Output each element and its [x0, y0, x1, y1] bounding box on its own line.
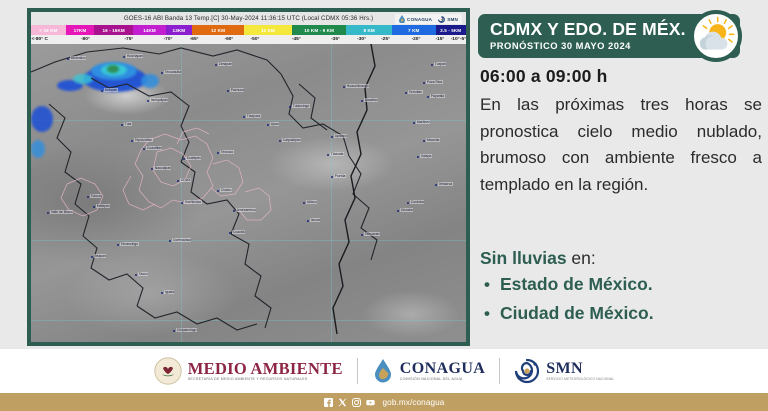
city-label: Texcoco [220, 150, 233, 154]
city-label: Tula [124, 122, 131, 126]
satellite-map-panel: GOES-16 ABI Banda 13 Temp.[C] 30-May-202… [27, 8, 470, 346]
colorbar-tick-0: <-80° C [31, 35, 47, 44]
city-label: Taxco [138, 272, 148, 276]
city-label: CDMX [180, 178, 191, 182]
city-label: Cuautla [232, 230, 244, 234]
footer-url-label[interactable]: gob.mx/conagua [383, 398, 445, 407]
city-label: Zacatlan [364, 98, 378, 102]
smn-name: SMN [546, 360, 614, 377]
medio-ambiente-tagline: SECRETARÍA DE MEDIO AMBIENTE Y RECURSOS … [188, 377, 343, 382]
city-label: Orizaba [400, 208, 413, 212]
city-label: Huauchinango [346, 84, 369, 88]
city-label: Huichapan [126, 54, 143, 58]
colorbar-tick-11: -20° [412, 35, 421, 44]
facebook-icon[interactable] [324, 398, 333, 407]
conagua-name: CONAGUA [400, 360, 485, 377]
youtube-icon[interactable] [366, 398, 375, 407]
colorbar-segment-10: 3.5 - 5KM [436, 25, 466, 35]
city-label: Xalapa [420, 154, 431, 158]
city-label: Atotonilco [70, 56, 86, 60]
city-label: Ecatepec [186, 156, 201, 160]
city-label: Tizayuca [246, 114, 260, 118]
region-name: Estado de México. [500, 270, 653, 299]
city-label: Metepec [96, 204, 110, 208]
conagua-drop-icon [372, 357, 394, 385]
bullet-marker-icon: • [484, 270, 490, 299]
colorbar-tick-4: -65° [190, 35, 199, 44]
city-label: Cuernavaca [172, 238, 191, 242]
city-label: Apan [270, 122, 279, 126]
list-item: •Estado de México. [484, 270, 764, 299]
conagua-watermark: CONAGUA [399, 15, 432, 23]
city-label: Atlixco [306, 200, 317, 204]
forecast-description-last-line: templado en la región. [480, 172, 762, 199]
city-label: Poza Rica [426, 80, 442, 84]
city-label: Xochimilco [184, 200, 201, 204]
smn-logo: SMN SERVICIO METEOROLÓGICO NACIONAL [514, 358, 614, 384]
forecast-description: En las próximas tres horas se pronostica… [480, 92, 762, 198]
state-boundaries [31, 44, 466, 342]
city-label: Tecozautla [164, 70, 181, 74]
region-name: Ciudad de México. [500, 299, 654, 328]
no-rain-suffix: en: [567, 248, 596, 268]
city-label: Ixmiquilpan [150, 98, 168, 102]
colorbar-segment-7: 10 KM - 9 KM [292, 25, 346, 35]
colorbar-tick-6: -50° [251, 35, 260, 44]
no-rain-label: Sin lluvias [480, 248, 567, 268]
city-label: Papantla [430, 94, 444, 98]
colorbar-tick-2: -75° [124, 35, 133, 44]
city-label: Actopan [104, 88, 117, 92]
city-label: Teziutlan [408, 90, 422, 94]
colorbar-tick-9: -30° [357, 35, 366, 44]
colorbar-segment-8: 8 KM [346, 25, 392, 35]
colorbar-tick-8: -35° [331, 35, 340, 44]
city-label: Iguala [164, 290, 174, 294]
smn-watermark-label: SMN [447, 17, 458, 22]
city-label: Naucalpan [154, 166, 171, 170]
colorbar-segment-3: 14KM [133, 25, 166, 35]
city-label: Veracruz [438, 182, 452, 186]
smn-tagline: SERVICIO METEOROLÓGICO NACIONAL [546, 377, 614, 381]
city-label: Tenancingo [120, 242, 138, 246]
medio-ambiente-name: MEDIO AMBIENTE [188, 360, 343, 377]
city-label: Pachuca [230, 88, 244, 92]
map-watermark-logos: CONAGUA SMN [395, 14, 462, 24]
city-label: Puebla [334, 174, 345, 178]
city-label: Cordoba [410, 200, 424, 204]
city-label: Chalco [220, 188, 231, 192]
city-label: Valle de Bravo [50, 210, 73, 214]
instagram-icon[interactable] [352, 398, 361, 407]
colorbar-tick-10: -25° [381, 35, 390, 44]
city-label: Apizaco [334, 134, 347, 138]
satellite-infrared-image: AtotonilcoHuichapanTecozautlaZimapanIxmi… [31, 44, 466, 342]
smn-spiral-icon [438, 16, 445, 23]
conagua-logo: CONAGUA COMISIÓN NACIONAL DEL AGUA [372, 357, 485, 385]
smn-spiral-icon [514, 358, 540, 384]
city-label: Zimapan [218, 62, 232, 66]
city-label: Tehuacan [364, 232, 380, 236]
city-label: Misantla [426, 138, 439, 142]
region-list: •Estado de México.•Ciudad de México. [484, 270, 764, 328]
city-label: Tepotzotlan [134, 138, 152, 142]
colorbar-tick-12: -15° [435, 35, 444, 44]
logo-divider [357, 358, 358, 384]
colorbar-segment-0: > 18 KM [31, 25, 66, 35]
colorbar-tick-13: -10° [451, 35, 460, 44]
medio-ambiente-logo: MEDIO AMBIENTE SECRETARÍA DE MEDIO AMBIE… [154, 357, 343, 385]
city-label: Martinez [416, 120, 430, 124]
forecast-panel: CDMX Y EDO. DE MÉX. PRONÓSTICO 30 MAYO 2… [478, 0, 768, 345]
no-rain-heading: Sin lluvias en: [480, 247, 596, 269]
forecast-description-text: En las próximas tres horas se pronostica… [480, 95, 762, 167]
colorbar-tick-labels: <-80° C-80°-75°-70°-65°-60°-50°-45°-35°-… [31, 35, 466, 44]
social-footer-bar: gob.mx/conagua [0, 393, 768, 411]
city-label: Tuxpan [434, 62, 446, 66]
list-item: •Ciudad de México. [484, 299, 764, 328]
colorbar-segment-9: 7 KM [392, 25, 436, 35]
forecast-time-range: 06:00 a 09:00 h [480, 66, 608, 87]
logo-divider [499, 358, 500, 384]
bullet-marker-icon: • [484, 299, 490, 328]
city-label: Ixtapan [94, 254, 106, 258]
colorbar-tick-3: -70° [164, 35, 173, 44]
city-label: Tlaxcala [330, 152, 343, 156]
colorbar-segment-6: 11 KM [244, 25, 292, 35]
city-label: Tulancingo [292, 104, 309, 108]
colorbar-tick-5: -60° [224, 35, 233, 44]
mexico-eagle-seal-icon [154, 357, 182, 385]
conagua-watermark-label: CONAGUA [407, 17, 432, 22]
conagua-tagline: COMISIÓN NACIONAL DEL AGUA [400, 377, 485, 382]
city-label: Toluca [90, 194, 101, 198]
x-twitter-icon[interactable] [338, 398, 347, 407]
city-label: Amecameca [236, 208, 256, 212]
city-label: Izucar [310, 218, 320, 222]
smn-watermark: SMN [438, 16, 458, 23]
city-label: Cuautitlan [146, 146, 162, 150]
colorbar-segment-4: 13KM [166, 25, 192, 35]
colorbar-tick-1: -80° [81, 35, 90, 44]
temperature-colorbar: > 18 KM17KM16 - 16KM14KM13KM12 KM11 KM10… [31, 25, 466, 35]
sun-behind-cloud-icon [690, 10, 742, 62]
conagua-drop-icon [399, 15, 405, 23]
colorbar-segment-1: 17KM [66, 25, 94, 35]
colorbar-tick-14: -5° [460, 35, 466, 44]
colorbar-segment-2: 16 - 16KM [94, 25, 133, 35]
footer-logos: MEDIO AMBIENTE SECRETARÍA DE MEDIO AMBIE… [0, 349, 768, 393]
colorbar-tick-7: -45° [292, 35, 301, 44]
city-label: Chilpancingo [176, 328, 196, 332]
colorbar-segment-5: 12 KM [192, 25, 244, 35]
city-label: Calpulalpan [282, 138, 301, 142]
